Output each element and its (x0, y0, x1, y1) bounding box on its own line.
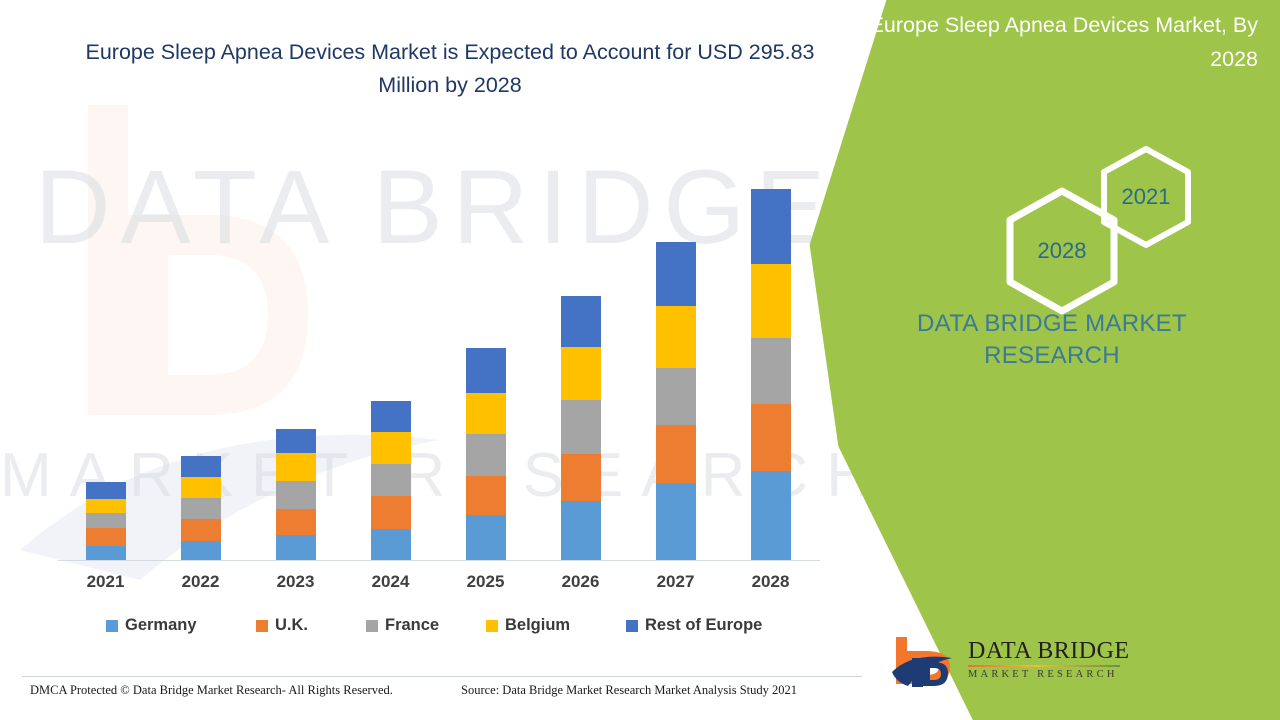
x-axis-label-2024: 2024 (351, 572, 431, 592)
chart-legend: GermanyU.K.FranceBelgiumRest of Europe (58, 616, 820, 642)
bar-segment-france-2024 (371, 464, 411, 496)
legend-swatch-icon (106, 620, 118, 632)
chart-x-axis-line (58, 560, 820, 561)
logo-wordmark-bottom: MARKET RESEARCH (968, 669, 1128, 680)
x-axis-label-2021: 2021 (66, 572, 146, 592)
bar-segment-germany-2024 (371, 529, 411, 561)
legend-label: France (385, 616, 439, 635)
legend-label: Belgium (505, 616, 570, 635)
logo-wordmark-top: DATA BRIDGE (968, 638, 1128, 664)
x-axis-label-2022: 2022 (161, 572, 241, 592)
bar-segment-u-k--2026 (561, 454, 601, 501)
legend-label: Germany (125, 616, 197, 635)
legend-label: Rest of Europe (645, 616, 762, 635)
bar-segment-belgium-2021 (86, 499, 126, 513)
bar-column-2027 (656, 242, 696, 561)
hexagon-badge-2021: 2021 (1100, 145, 1192, 249)
x-axis-label-2025: 2025 (446, 572, 526, 592)
bar-segment-u-k--2027 (656, 425, 696, 483)
legend-swatch-icon (366, 620, 378, 632)
data-bridge-logo: DATA BRIDGE MARKET RESEARCH (890, 634, 1120, 696)
bar-column-2028 (751, 189, 791, 561)
x-axis-label-2028: 2028 (731, 572, 811, 592)
bar-segment-belgium-2026 (561, 347, 601, 400)
bar-segment-france-2021 (86, 513, 126, 528)
bar-column-2026 (561, 296, 601, 561)
bar-segment-rest-of-europe-2027 (656, 242, 696, 307)
bar-segment-rest-of-europe-2025 (466, 348, 506, 393)
legend-swatch-icon (626, 620, 638, 632)
bar-segment-u-k--2028 (751, 404, 791, 471)
hexagon-badge-2028-label: 2028 (1038, 238, 1087, 264)
bar-segment-france-2028 (751, 338, 791, 404)
legend-item-u-k-[interactable]: U.K. (256, 616, 308, 635)
bar-segment-germany-2021 (86, 546, 126, 561)
data-bridge-logo-mark-icon (890, 634, 962, 692)
bar-segment-u-k--2021 (86, 528, 126, 546)
bar-segment-u-k--2022 (181, 519, 221, 541)
legend-item-belgium[interactable]: Belgium (486, 616, 570, 635)
bar-segment-belgium-2024 (371, 432, 411, 464)
bar-column-2022 (181, 456, 221, 561)
chart-x-axis-labels: 20212022202320242025202620272028 (58, 572, 820, 600)
bar-segment-belgium-2022 (181, 477, 221, 498)
bar-segment-rest-of-europe-2024 (371, 401, 411, 432)
x-axis-label-2026: 2026 (541, 572, 621, 592)
bar-column-2024 (371, 401, 411, 561)
bar-column-2025 (466, 348, 506, 561)
panel-brand-line-1: DATA BRIDGE MARKET (852, 308, 1252, 340)
bar-segment-u-k--2023 (276, 509, 316, 535)
legend-item-germany[interactable]: Germany (106, 616, 197, 635)
bar-segment-germany-2028 (751, 471, 791, 561)
bar-column-2023 (276, 429, 316, 561)
data-bridge-wordmark: DATA BRIDGE MARKET RESEARCH (968, 638, 1128, 680)
bar-segment-belgium-2025 (466, 393, 506, 434)
chart-plot (58, 170, 818, 561)
bar-segment-germany-2026 (561, 501, 601, 561)
bar-segment-rest-of-europe-2026 (561, 296, 601, 348)
panel-brand-line-2: RESEARCH (852, 340, 1252, 372)
panel-title: Europe Sleep Apnea Devices Market, By 20… (846, 8, 1258, 76)
footer-divider (22, 676, 862, 677)
x-axis-label-2027: 2027 (636, 572, 716, 592)
bar-segment-u-k--2025 (466, 476, 506, 515)
footer-source: Source: Data Bridge Market Research Mark… (461, 683, 797, 698)
bar-segment-germany-2025 (466, 515, 506, 561)
bar-column-2021 (86, 482, 126, 561)
legend-swatch-icon (256, 620, 268, 632)
bar-segment-rest-of-europe-2023 (276, 429, 316, 453)
legend-swatch-icon (486, 620, 498, 632)
footer-copyright: DMCA Protected © Data Bridge Market Rese… (30, 683, 393, 698)
bar-segment-rest-of-europe-2022 (181, 456, 221, 477)
x-axis-label-2023: 2023 (256, 572, 336, 592)
bar-segment-rest-of-europe-2021 (86, 482, 126, 499)
bar-segment-rest-of-europe-2028 (751, 189, 791, 264)
legend-label: U.K. (275, 616, 308, 635)
bar-segment-belgium-2028 (751, 264, 791, 339)
bar-segment-france-2023 (276, 481, 316, 509)
panel-brand: DATA BRIDGE MARKET RESEARCH (852, 308, 1252, 372)
legend-item-rest-of-europe[interactable]: Rest of Europe (626, 616, 762, 635)
bar-segment-germany-2022 (181, 541, 221, 561)
bar-segment-france-2025 (466, 434, 506, 476)
hexagon-badge-2021-label: 2021 (1122, 184, 1171, 210)
bar-segment-belgium-2023 (276, 453, 316, 481)
bar-segment-france-2026 (561, 400, 601, 454)
bar-segment-france-2022 (181, 498, 221, 519)
legend-item-france[interactable]: France (366, 616, 439, 635)
logo-divider (968, 665, 1120, 667)
bar-segment-germany-2027 (656, 483, 696, 561)
chart-area: 20212022202320242025202620272028 Germany… (0, 0, 870, 720)
bar-segment-germany-2023 (276, 535, 316, 561)
bar-segment-u-k--2024 (371, 496, 411, 529)
bar-segment-belgium-2027 (656, 306, 696, 368)
bar-segment-france-2027 (656, 368, 696, 425)
